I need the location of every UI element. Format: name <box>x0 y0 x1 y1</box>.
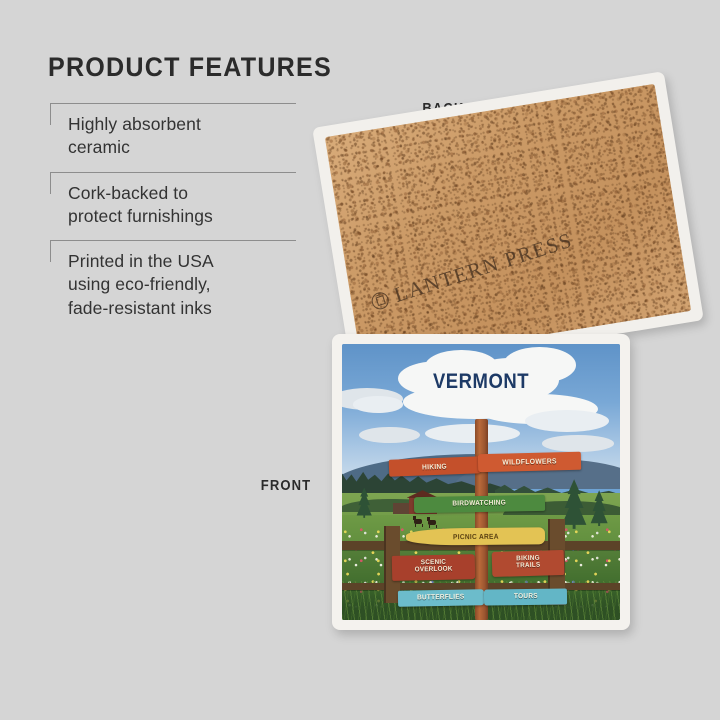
divider <box>50 240 296 241</box>
sign-wildflowers: WILDFLOWERS <box>478 451 581 471</box>
sign-label: BUTTERFLIES <box>417 594 465 602</box>
coaster-artwork: VERMONT <box>342 344 620 620</box>
sign-scenic-overlook: SCENIC OVERLOOK <box>392 554 476 581</box>
horse <box>414 519 422 524</box>
sign-butterflies: BUTTERFLIES <box>397 589 483 607</box>
sign-label: BIRDWATCHING <box>453 500 507 508</box>
sign-biking-trails: BIKING TRAILS <box>492 550 565 577</box>
sign-hiking: HIKING <box>389 456 481 477</box>
front-label: FRONT <box>261 478 311 494</box>
lantern-icon <box>370 290 391 311</box>
coaster-back: LANTERN PRESS <box>312 71 704 377</box>
feature-text: Highly absorbent ceramic <box>68 113 300 160</box>
divider <box>50 172 296 173</box>
cloud <box>542 435 614 452</box>
sign-label: HIKING <box>423 462 448 470</box>
cloud <box>353 396 403 413</box>
divider <box>50 103 296 104</box>
brand-stamp: LANTERN PRESS <box>368 228 576 316</box>
sign-label: PICNIC AREA <box>453 532 499 540</box>
brand-text: LANTERN PRESS <box>391 228 576 308</box>
divider-tick <box>50 172 51 194</box>
feature-text: Printed in the USA using eco-friendly, f… <box>68 250 300 320</box>
sign-tours: TOURS <box>484 588 568 605</box>
page-title: PRODUCT FEATURES <box>48 52 282 83</box>
sign-label: TOURS <box>514 593 538 600</box>
sign-birdwatching: BIRDWATCHING <box>414 495 545 513</box>
divider-tick <box>50 240 51 262</box>
feature-item: Cork-backed to protect furnishings <box>48 172 300 241</box>
sign-label: WILDFLOWERS <box>502 457 557 466</box>
divider-tick <box>50 103 51 125</box>
sign-label: SCENIC OVERLOOK <box>415 560 453 575</box>
sign-picnic-area: PICNIC AREA <box>406 527 545 546</box>
feature-text: Cork-backed to protect furnishings <box>68 182 300 229</box>
product-features-panel: PRODUCT FEATURES Highly absorbent cerami… <box>48 52 300 332</box>
feature-item: Highly absorbent ceramic <box>48 103 300 172</box>
feature-item: Printed in the USA using eco-friendly, f… <box>48 240 300 332</box>
coaster-front: VERMONT <box>332 334 630 630</box>
horse <box>428 520 436 525</box>
product-image: PRODUCT FEATURES Highly absorbent cerami… <box>0 0 720 720</box>
cork-surface: LANTERN PRESS <box>325 84 691 364</box>
artwork-title: VERMONT <box>359 370 604 394</box>
sign-label: BIKING TRAILS <box>516 556 541 571</box>
